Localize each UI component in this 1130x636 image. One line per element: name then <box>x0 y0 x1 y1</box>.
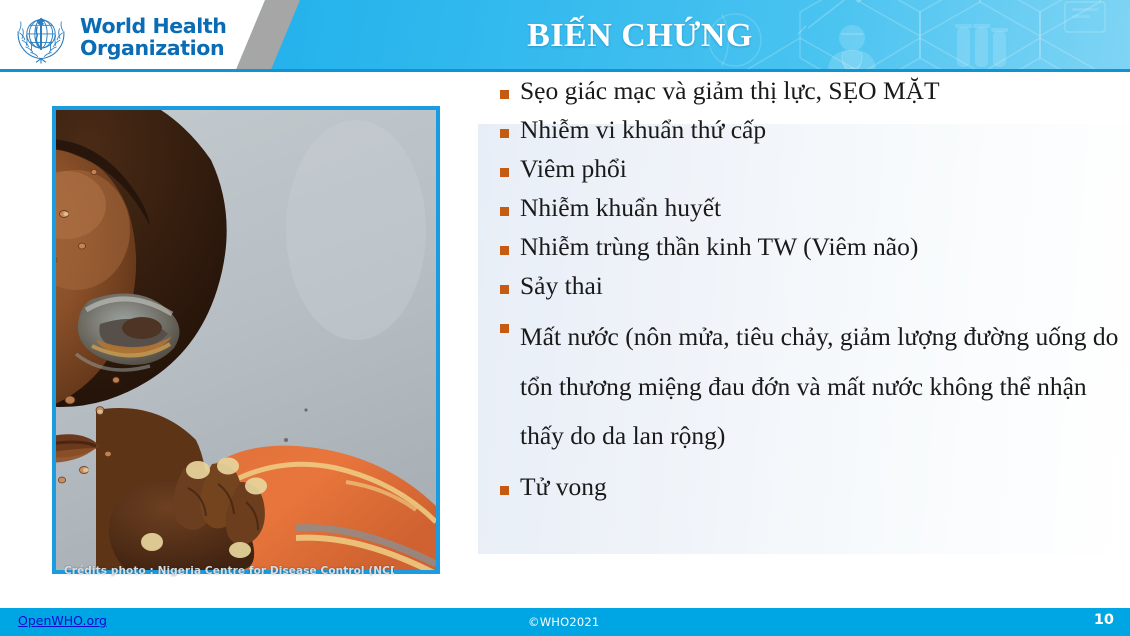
list-item: Nhiễm trùng thần kinh TW (Viêm não) <box>500 234 1130 260</box>
list-item: Nhiễm khuẩn huyết <box>500 195 1130 221</box>
list-item-label: Nhiễm vi khuẩn thứ cấp <box>520 117 766 143</box>
list-item: Mất nước (nôn mửa, tiêu chảy, giảm lượng… <box>500 312 1130 461</box>
list-item-label: Tử vong <box>520 474 607 500</box>
list-item: Tử vong <box>500 474 1130 500</box>
list-item-label: Viêm phổi <box>520 156 627 182</box>
photo-credit-caption: Crédits photo : Nigeria Centre for Disea… <box>64 565 394 577</box>
list-item-label: Nhiễm khuẩn huyết <box>520 195 721 221</box>
list-item: Sảy thai <box>500 273 1130 299</box>
who-logo-line1: World Health <box>80 15 226 37</box>
list-item: Viêm phổi <box>500 156 1130 182</box>
who-logo: World Health Organization <box>10 6 250 68</box>
list-item-label: Sảy thai <box>520 273 603 299</box>
photo-image <box>56 110 436 570</box>
bullet-square-icon <box>500 90 509 99</box>
list-item-label: Mất nước (nôn mửa, tiêu chảy, giảm lượng… <box>520 312 1120 461</box>
copyright-text: ©WHO2021 <box>528 615 599 629</box>
bullet-square-icon <box>500 324 509 333</box>
page-title: BIẾN CHỨNG <box>470 12 810 62</box>
bullet-square-icon <box>500 486 509 495</box>
bullet-square-icon <box>500 207 509 216</box>
bullet-square-icon <box>500 246 509 255</box>
page-number: 10 <box>1094 612 1114 628</box>
list-item: Nhiễm vi khuẩn thứ cấp <box>500 117 1130 143</box>
bullet-square-icon <box>500 285 509 294</box>
who-logo-text: World Health Organization <box>80 15 226 59</box>
list-item-label: Sẹo giác mạc và giảm thị lực, SẸO MẶT <box>520 78 940 104</box>
bullet-square-icon <box>500 129 509 138</box>
slide-header: World Health Organization BIẾN CHỨNG <box>0 0 1130 72</box>
slide: World Health Organization BIẾN CHỨNG <box>0 0 1130 636</box>
header-bottom-rule <box>0 69 1130 72</box>
list-item-label: Nhiễm trùng thần kinh TW (Viêm não) <box>520 234 918 260</box>
bullet-square-icon <box>500 168 509 177</box>
who-logo-line2: Organization <box>80 37 226 59</box>
measles-complication-photo <box>52 106 440 574</box>
who-emblem-icon <box>10 8 72 66</box>
complications-list: Sẹo giác mạc và giảm thị lực, SẸO MẶT Nh… <box>500 78 1130 608</box>
list-item: Sẹo giác mạc và giảm thị lực, SẸO MẶT <box>500 78 1130 104</box>
openwho-link[interactable]: OpenWHO.org <box>18 613 107 628</box>
